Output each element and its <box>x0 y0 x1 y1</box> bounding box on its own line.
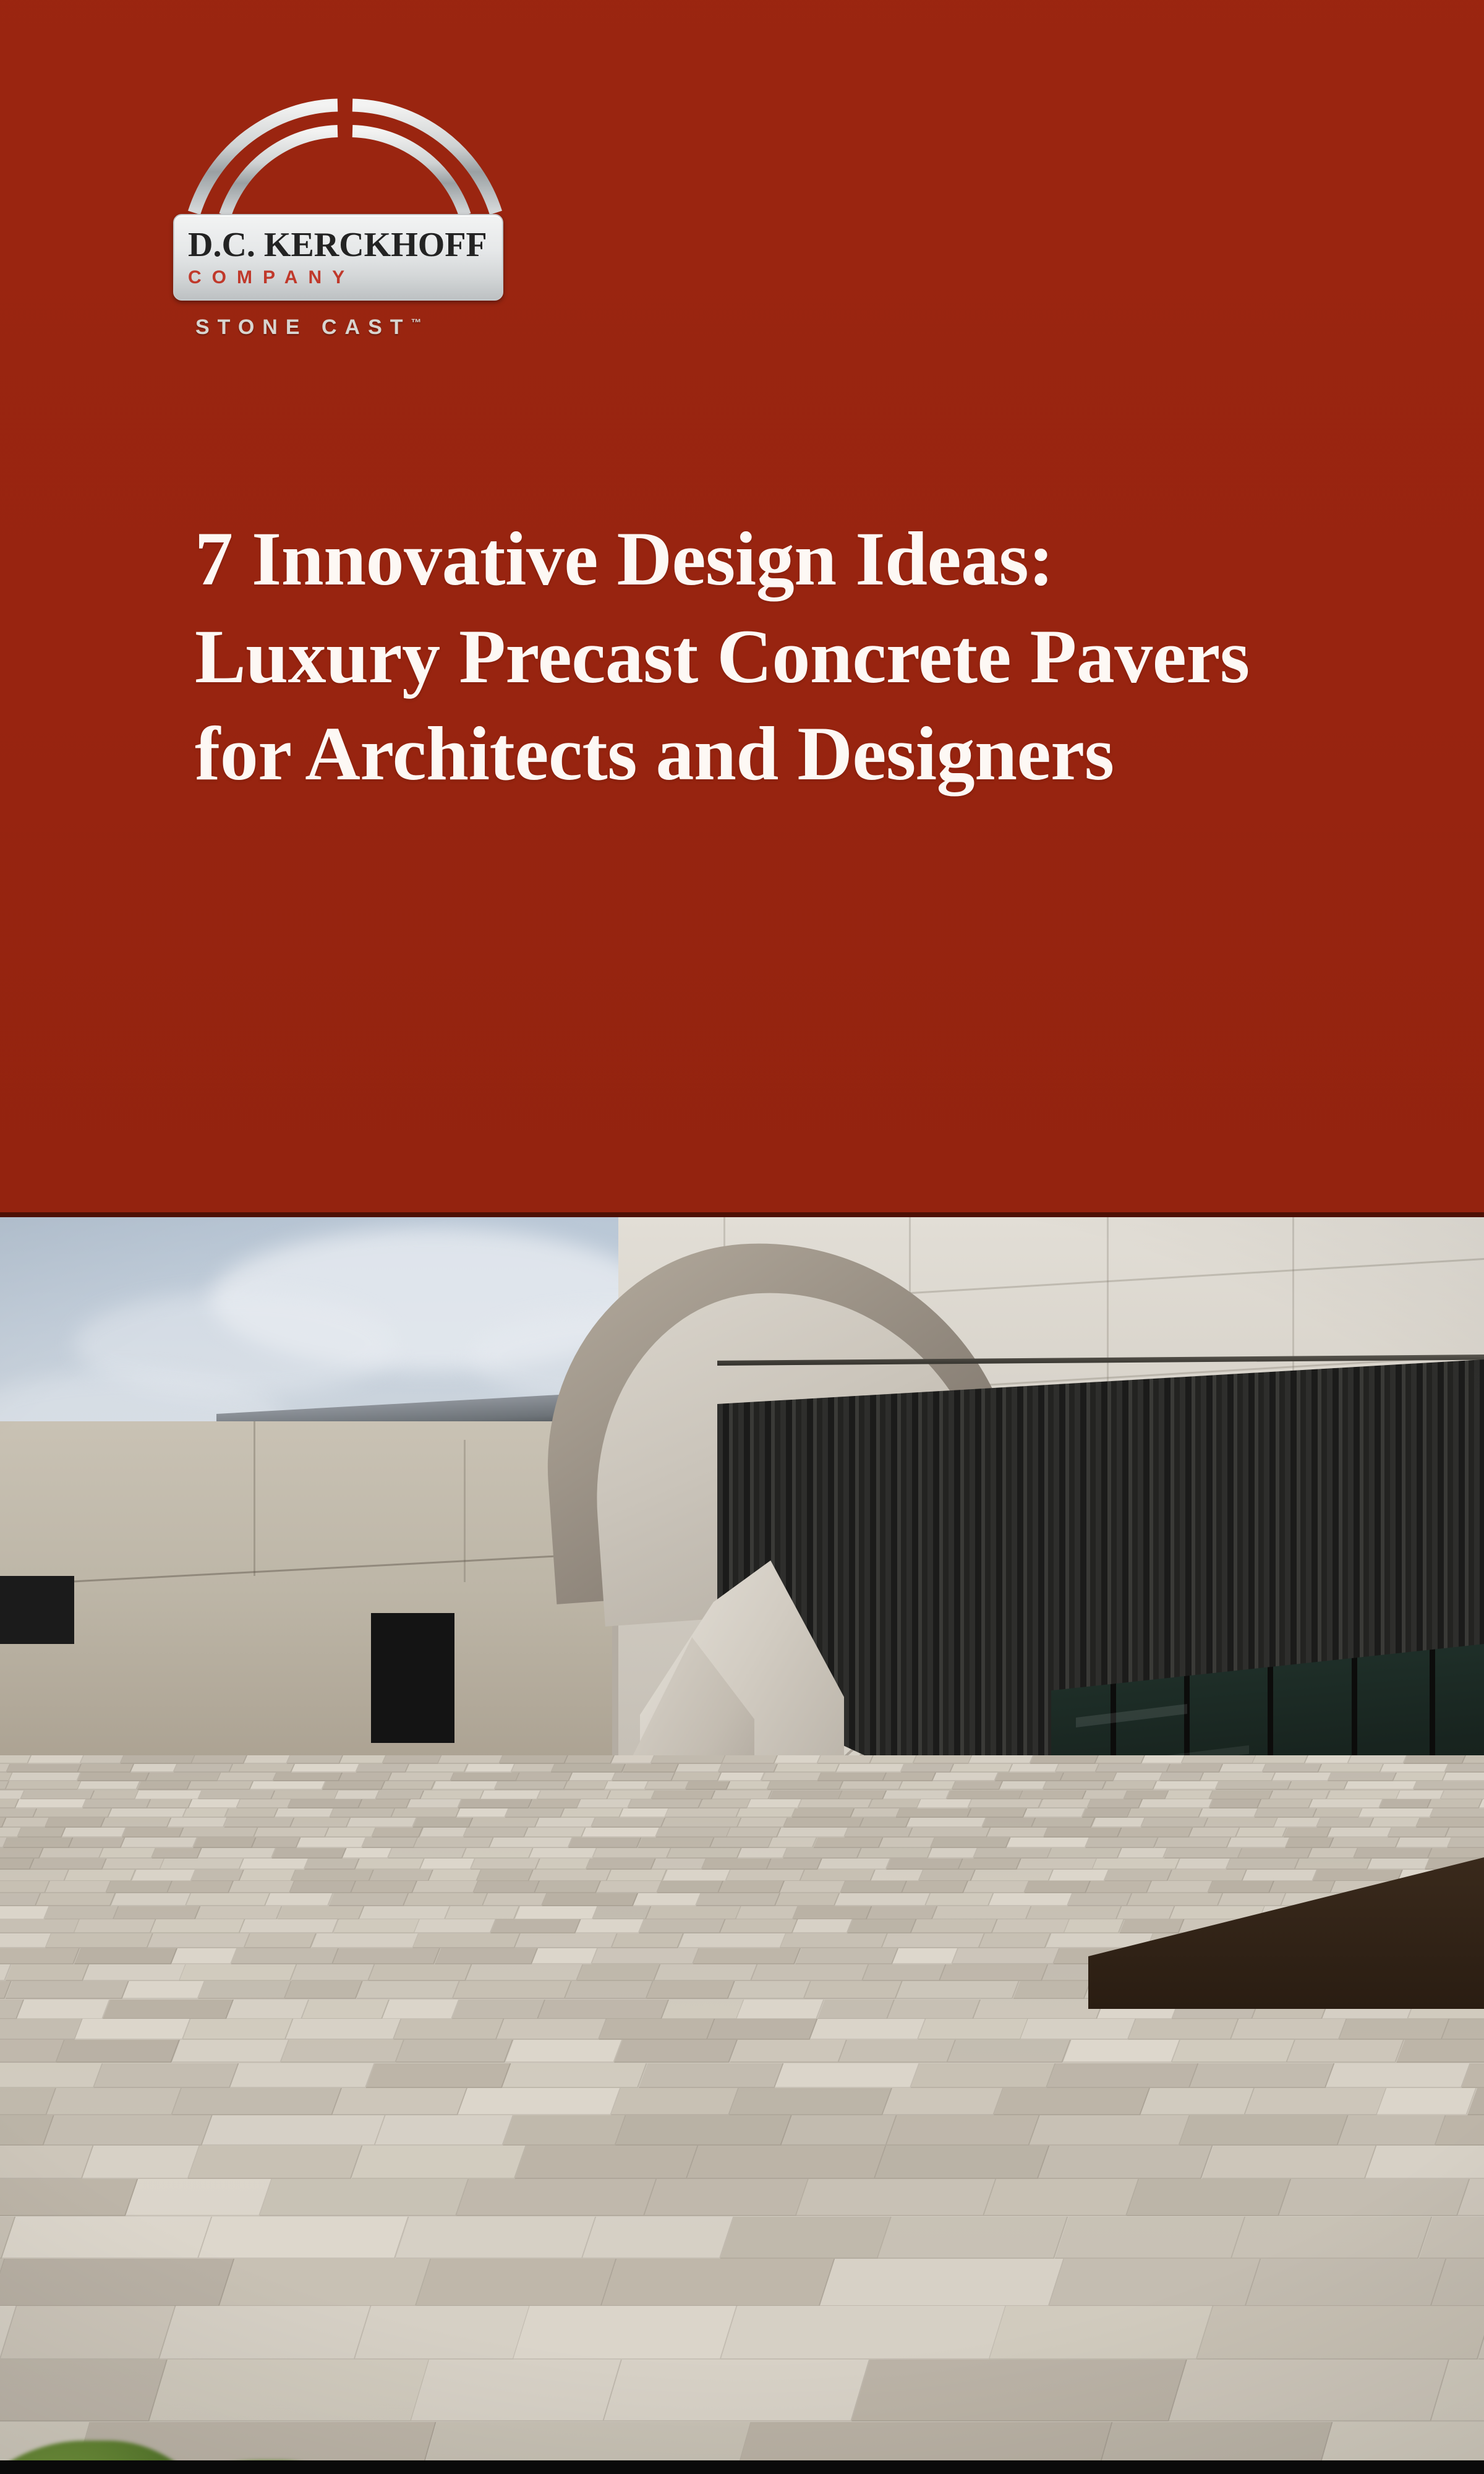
paver <box>45 1881 111 1893</box>
logo-company-name: D.C. KERCKHOFF <box>188 228 488 262</box>
paver <box>1127 2179 1291 2216</box>
paver <box>36 1893 116 1906</box>
paver <box>404 1893 488 1906</box>
paver <box>406 1764 468 1773</box>
paver <box>490 1919 581 1933</box>
paver <box>565 1981 654 1999</box>
paver <box>1396 1791 1444 1800</box>
paver <box>1102 1781 1156 1790</box>
paver <box>1313 2422 1484 2460</box>
paver <box>1305 1755 1352 1764</box>
paver <box>147 1799 193 1808</box>
paver <box>662 2000 744 2019</box>
paver-row <box>0 1881 1484 1893</box>
paver <box>244 1933 317 1948</box>
share-card-page: D.C. KERCKHOFF COMPANY STONE CAST™ 7 Inn… <box>0 0 1484 2474</box>
dc-kerckhoff-company-logo[interactable]: D.C. KERCKHOFF COMPANY STONE CAST™ <box>172 92 518 370</box>
paver <box>911 1919 997 1933</box>
paver <box>356 1981 460 1999</box>
paver <box>899 1781 956 1790</box>
paver <box>391 1808 461 1818</box>
paver <box>355 1859 425 1870</box>
paver <box>278 1906 365 1920</box>
paver <box>1283 1828 1331 1838</box>
paver <box>529 1870 612 1881</box>
paver <box>500 1755 568 1764</box>
paver <box>1286 1838 1334 1848</box>
paver <box>906 1818 987 1828</box>
paver <box>1396 1838 1452 1848</box>
paver <box>633 1893 702 1906</box>
paver <box>603 2360 870 2421</box>
paver <box>702 1859 772 1870</box>
paver <box>1083 1791 1128 1800</box>
paver <box>1205 1818 1278 1828</box>
paver <box>847 1919 916 1933</box>
paver <box>946 1791 1023 1800</box>
paver <box>5 1964 89 1981</box>
paver <box>45 1818 106 1828</box>
paver <box>429 1870 482 1881</box>
paver <box>678 1933 786 1948</box>
paver <box>1063 2040 1180 2063</box>
paver <box>736 2000 824 2019</box>
paver <box>114 1906 201 1920</box>
paver <box>516 1773 573 1781</box>
paver <box>412 1818 473 1828</box>
paver <box>412 1881 479 1893</box>
paver <box>420 1859 475 1870</box>
paver <box>1096 1764 1171 1773</box>
paver <box>1020 2019 1136 2040</box>
paver <box>172 2040 289 2063</box>
paver <box>665 1808 740 1818</box>
paver <box>607 1870 668 1881</box>
paver <box>1153 1781 1220 1790</box>
paver <box>462 1848 534 1859</box>
paver <box>614 2040 738 2063</box>
paver <box>514 1906 598 1920</box>
paver <box>1124 1791 1169 1800</box>
paver <box>130 1764 177 1773</box>
paver <box>950 1764 1013 1773</box>
paver <box>229 1764 295 1773</box>
paver <box>231 1948 339 1964</box>
paver <box>845 1828 913 1838</box>
paver-row <box>0 1859 1484 1870</box>
paver <box>220 2259 431 2306</box>
paver <box>651 1859 706 1870</box>
paver <box>0 1919 80 1933</box>
paver <box>304 1859 359 1870</box>
paver <box>963 1881 1030 1893</box>
paver <box>1095 1755 1145 1764</box>
paver <box>1365 2146 1484 2179</box>
paver-row <box>0 1870 1484 1881</box>
paver <box>979 1933 1052 1948</box>
paver <box>686 1781 730 1790</box>
paver <box>333 1919 420 1933</box>
paver <box>769 1838 817 1848</box>
paver <box>919 1870 976 1881</box>
paver <box>1325 2063 1470 2088</box>
paver <box>737 1818 788 1828</box>
paver <box>569 1773 616 1781</box>
paver <box>1181 1755 1256 1764</box>
paver <box>311 1933 419 1948</box>
paver <box>538 2000 669 2019</box>
paver <box>1141 1818 1208 1828</box>
paver <box>926 1893 994 1906</box>
paver <box>474 1881 540 1893</box>
paver <box>420 1791 485 1800</box>
paver <box>796 2179 996 2216</box>
paver <box>1308 1799 1383 1808</box>
paver <box>751 1964 869 1981</box>
paver <box>0 2179 138 2216</box>
paver <box>1344 1781 1417 1790</box>
paver <box>15 1799 87 1808</box>
paver <box>1154 1838 1231 1848</box>
paver <box>1337 2115 1446 2146</box>
paver <box>535 1859 591 1870</box>
paver <box>592 1948 700 1964</box>
paver <box>183 1808 229 1818</box>
paver <box>74 1948 177 1964</box>
paver <box>0 1870 69 1881</box>
paver <box>655 1828 730 1838</box>
paver <box>638 1838 714 1848</box>
paver <box>973 2000 1104 2019</box>
paver <box>646 1981 735 1999</box>
paver <box>1167 1764 1223 1773</box>
paver <box>183 2019 294 2040</box>
paver <box>44 2115 213 2146</box>
paver <box>718 1764 777 1773</box>
paver <box>813 1838 883 1848</box>
paver <box>193 1838 256 1848</box>
paver <box>1226 1859 1300 1870</box>
paver <box>612 1773 675 1781</box>
paver <box>1113 1773 1164 1781</box>
paver <box>260 2179 469 2216</box>
paver <box>1257 1799 1312 1808</box>
paver <box>817 1773 887 1781</box>
paver <box>5 1981 129 1999</box>
paver <box>56 2040 180 2063</box>
paver <box>619 1808 668 1818</box>
paver <box>328 1893 409 1906</box>
paver <box>1049 1870 1109 1881</box>
paver <box>780 1933 887 1948</box>
paver <box>1396 2040 1484 2063</box>
paver <box>707 2019 817 2040</box>
paver <box>867 1906 938 1920</box>
paver <box>537 1791 611 1800</box>
paver <box>108 1808 187 1818</box>
paver <box>592 1818 665 1828</box>
paver <box>1128 2019 1239 2040</box>
paver <box>511 1764 555 1773</box>
paver <box>852 2360 1188 2421</box>
paver <box>369 1870 433 1881</box>
paver-row <box>0 1838 1484 1848</box>
paver <box>202 2115 385 2146</box>
paver <box>187 1781 254 1790</box>
paver <box>1009 1764 1059 1773</box>
paver <box>456 2179 657 2216</box>
paver <box>1445 1828 1484 1838</box>
paver <box>168 1881 234 1893</box>
paver <box>0 1859 35 1870</box>
paver <box>1086 1838 1159 1848</box>
paver <box>198 2217 409 2259</box>
paver <box>359 1906 451 1920</box>
paver <box>301 2000 389 2019</box>
paver <box>188 2146 363 2179</box>
paver <box>1274 1818 1321 1828</box>
paver <box>798 1799 873 1808</box>
paver <box>1209 1799 1261 1808</box>
paver <box>0 1948 80 1964</box>
paver <box>1370 1818 1420 1828</box>
paver <box>286 2019 402 2040</box>
paver <box>644 2179 808 2216</box>
paver <box>137 1781 191 1790</box>
paver <box>1330 1838 1400 1848</box>
paver-row <box>0 1799 1484 1808</box>
paver <box>918 2019 1028 2040</box>
paver <box>968 1808 1027 1818</box>
paver <box>359 1799 411 1808</box>
paver <box>850 1808 900 1818</box>
paver <box>274 1808 333 1818</box>
paver <box>869 1799 921 1808</box>
paver <box>244 1755 291 1764</box>
paver <box>774 1755 821 1764</box>
paver <box>693 1948 801 1964</box>
paver <box>604 1781 649 1790</box>
paver <box>290 1881 356 1893</box>
paver <box>804 1981 903 1999</box>
paver <box>663 1870 731 1881</box>
paver <box>657 1881 723 1893</box>
paver <box>168 1818 228 1828</box>
paver <box>1462 1755 1484 1764</box>
paver <box>496 2019 607 2040</box>
paver <box>932 1773 999 1781</box>
paver <box>838 1791 887 1800</box>
paver <box>652 1791 716 1800</box>
paver <box>191 1870 244 1881</box>
paver <box>1038 2146 1213 2179</box>
paver <box>368 1964 471 1981</box>
paver <box>445 1906 520 1920</box>
paver <box>762 1773 822 1781</box>
paver <box>1354 1848 1433 1859</box>
paver <box>877 2217 1068 2259</box>
paver <box>407 1799 462 1808</box>
paver <box>419 1828 467 1838</box>
paver <box>835 1893 931 1906</box>
paver <box>661 1818 741 1828</box>
paver <box>883 1791 950 1800</box>
paver <box>820 2259 1064 2306</box>
paver <box>793 1906 872 1920</box>
paver <box>774 1764 839 1773</box>
paver <box>451 1773 520 1781</box>
paver <box>388 1773 454 1781</box>
paver <box>710 1838 773 1848</box>
paver <box>646 1906 741 1920</box>
paver <box>720 1919 798 1933</box>
double-arc-icon <box>172 92 518 215</box>
paver <box>106 1881 173 1893</box>
paver <box>0 1893 41 1906</box>
paver-row <box>0 2040 1484 2063</box>
paver <box>1246 2259 1447 2306</box>
paver <box>686 2146 886 2179</box>
paver <box>1189 2063 1334 2088</box>
paver <box>2 1818 49 1828</box>
paver <box>0 2360 167 2421</box>
paver-row <box>0 1773 1484 1781</box>
paver <box>1165 1791 1213 1800</box>
paver <box>577 1799 632 1808</box>
paver <box>995 1773 1064 1781</box>
paver <box>514 1933 618 1948</box>
paver <box>1081 1808 1131 1818</box>
paver <box>432 1781 498 1790</box>
paver <box>968 1755 1034 1764</box>
paver <box>335 1791 380 1800</box>
paver <box>1032 1818 1096 1828</box>
paver-row <box>0 2306 1484 2360</box>
paver <box>505 1808 565 1818</box>
paver <box>82 2146 200 2179</box>
paver <box>984 2179 1140 2216</box>
paver <box>767 1781 843 1790</box>
paver <box>722 1755 778 1764</box>
paver <box>1140 2088 1255 2115</box>
paver <box>515 2146 699 2179</box>
paver-row <box>0 1848 1484 1859</box>
paver <box>1367 1859 1430 1870</box>
paver <box>886 2115 1040 2146</box>
paver <box>1279 2179 1470 2216</box>
paver <box>896 1808 971 1818</box>
paver <box>602 2259 835 2306</box>
paver-row <box>0 1755 1484 1764</box>
paver <box>375 2115 513 2146</box>
paver <box>628 1799 703 1808</box>
paver <box>836 1764 905 1773</box>
paver <box>1376 2088 1477 2115</box>
paver <box>366 2063 511 2088</box>
paver <box>887 2000 980 2019</box>
paver <box>892 1948 958 1964</box>
paver <box>160 1859 244 1870</box>
paver <box>611 1755 655 1764</box>
paver <box>774 2063 919 2088</box>
paver <box>505 2040 623 2063</box>
courtyard-paver-plaza-photo <box>0 1217 1484 2460</box>
paver <box>901 1764 954 1773</box>
paver <box>1175 1859 1230 1870</box>
paver <box>596 1881 662 1893</box>
paver <box>599 2019 715 2040</box>
paver <box>994 2088 1150 2115</box>
paver <box>339 1773 393 1781</box>
paver <box>1327 1828 1392 1838</box>
paver <box>1006 1838 1090 1848</box>
paver <box>800 1870 876 1881</box>
paver <box>1091 1818 1145 1828</box>
paver <box>1238 1848 1313 1859</box>
paver <box>333 1948 441 1964</box>
paver <box>615 2115 791 2146</box>
paver <box>30 1859 106 1870</box>
paver <box>1443 1773 1484 1781</box>
paver <box>1118 1828 1193 1838</box>
paver <box>1414 1781 1484 1790</box>
paver <box>576 1964 660 1981</box>
paver <box>465 1964 583 1981</box>
paver <box>343 1848 393 1859</box>
paver <box>747 1799 802 1808</box>
paver <box>495 1781 568 1790</box>
paver <box>1288 1781 1349 1790</box>
paver <box>809 2019 926 2040</box>
paver <box>913 1755 972 1764</box>
paver <box>1019 1791 1086 1800</box>
paver-row <box>0 2146 1484 2179</box>
paver <box>607 1791 655 1800</box>
paver <box>1339 2019 1450 2040</box>
paver <box>1119 1919 1184 1933</box>
paver <box>775 1893 840 1906</box>
paver <box>226 2000 309 2019</box>
paver <box>147 1933 250 1948</box>
paver <box>339 1755 386 1764</box>
paver <box>225 1808 278 1818</box>
paver <box>1147 1881 1213 1893</box>
paver <box>1263 1764 1322 1773</box>
page-title: 7 Innovative Design Ideas: Luxury Precas… <box>195 510 1308 802</box>
paver <box>325 1828 377 1838</box>
paver <box>463 1828 528 1838</box>
paver <box>152 1848 202 1859</box>
paver <box>783 1818 864 1828</box>
paver <box>817 1755 874 1764</box>
paver <box>1227 1838 1290 1848</box>
paver <box>291 1870 374 1881</box>
paver <box>795 1948 898 1964</box>
paver <box>986 1828 1048 1838</box>
paver <box>840 1781 903 1790</box>
paver <box>126 2179 272 2216</box>
paver <box>198 1791 275 1800</box>
paver <box>1197 2306 1484 2360</box>
paver <box>592 1906 651 1920</box>
paver <box>729 2088 892 2115</box>
paver <box>1164 1848 1242 1859</box>
paver <box>1189 1828 1240 1838</box>
paver <box>356 1764 409 1773</box>
paver <box>718 1773 765 1781</box>
paver <box>611 2088 739 2115</box>
paver <box>17 2000 110 2019</box>
